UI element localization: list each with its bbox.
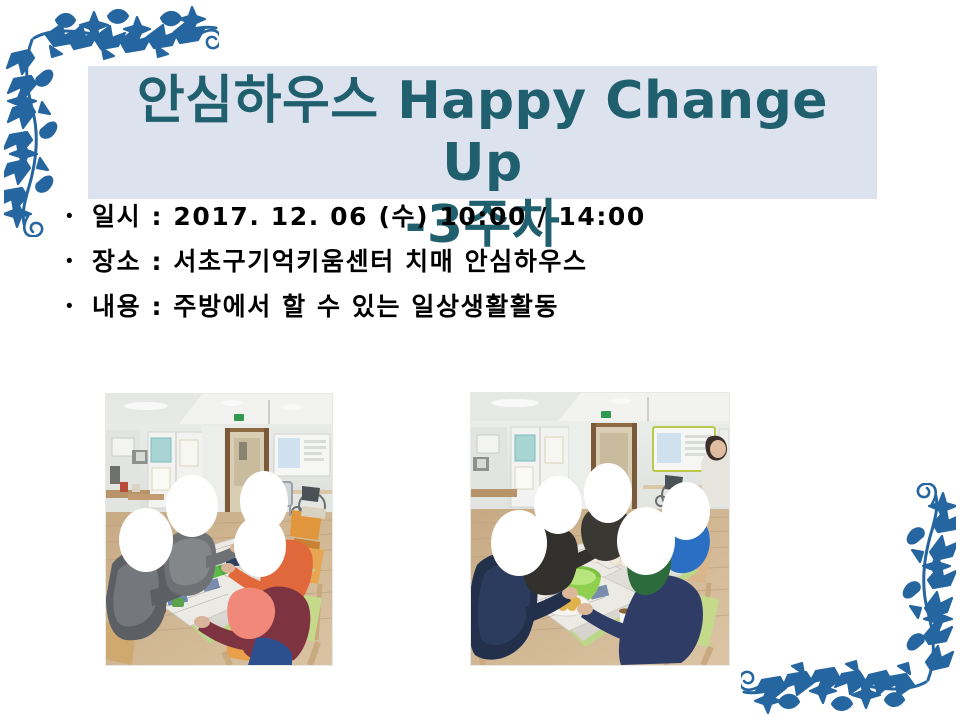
floral-vine-corner-ornament-icon: [741, 483, 956, 718]
list-item: • 일시 : 2017. 12. 06 (수) 10:00 / 14:00: [62, 200, 902, 237]
bullet-marker-icon: •: [62, 200, 92, 234]
list-item-label: 일시 : 2017. 12. 06 (수) 10:00 / 14:00: [92, 200, 646, 234]
face-mask: [166, 475, 218, 537]
list-item: • 장소 : 서초구기억키움센터 치매 안심하우스: [62, 245, 902, 282]
face-mask: [662, 482, 710, 540]
face-mask: [584, 463, 632, 523]
activity-photo-left: [105, 393, 333, 666]
face-mask: [119, 508, 173, 572]
bullet-marker-icon: •: [62, 245, 92, 279]
list-item: • 내용 : 주방에서 할 수 있는 일상생활활동: [62, 290, 902, 327]
title-banner: 안심하우스 Happy Change Up -3주차: [88, 66, 877, 199]
face-mask: [534, 476, 582, 534]
list-item-label: 내용 : 주방에서 할 수 있는 일상생활활동: [92, 290, 559, 324]
bullet-marker-icon: •: [62, 290, 92, 324]
slide-canvas: 안심하우스 Happy Change Up -3주차 • 일시 : 2017. …: [0, 0, 960, 720]
activity-photo-right: [470, 392, 730, 666]
list-item-label: 장소 : 서초구기억키움센터 치매 안심하우스: [92, 245, 588, 279]
bullet-list: • 일시 : 2017. 12. 06 (수) 10:00 / 14:00 • …: [62, 200, 902, 335]
face-mask: [234, 515, 286, 577]
